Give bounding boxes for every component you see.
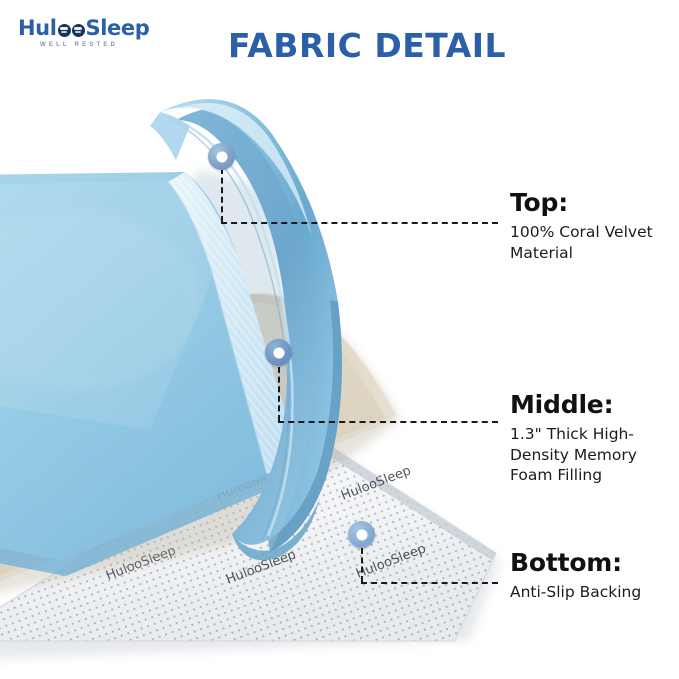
brand-wordmark: Hul Sleep	[18, 18, 168, 39]
watermark-text: HulooSleep	[339, 463, 413, 503]
leader-line-bottom-vertical	[361, 548, 363, 582]
anti-slip-backing-layer: HulooSleep HulooSleep HulooSleep HulooSl…	[0, 424, 500, 660]
brand-name-part2: Sleep	[86, 18, 150, 39]
callout-middle-heading: Middle:	[510, 392, 679, 418]
brand-name-part1: Hul	[18, 18, 57, 39]
callout-bottom-heading: Bottom:	[510, 550, 679, 576]
leader-line-middle-vertical	[278, 367, 280, 421]
callout-top-body: 100% Coral Velvet Material	[510, 222, 679, 263]
leader-line-top-horizontal	[221, 222, 498, 224]
page-title: FABRIC DETAIL	[228, 26, 506, 65]
callout-top-heading: Top:	[510, 190, 679, 216]
memory-foam-layer	[0, 294, 400, 600]
watermark-text: HulooSleep	[214, 463, 288, 503]
leader-line-middle-horizontal	[278, 421, 498, 423]
watermark-text: HulooSleep	[224, 547, 298, 587]
watermark-text: HulooSleep	[104, 543, 178, 583]
callout-marker-middle[interactable]	[265, 339, 292, 366]
watermark-text: HulooSleep	[0, 483, 62, 523]
fabric-detail-infographic: Hul Sleep WELL RESTED FABRIC DETAIL	[0, 0, 679, 679]
leader-line-bottom-horizontal	[361, 582, 498, 584]
callout-middle-body: 1.3" Thick High-Density Memory Foam Fill…	[510, 424, 679, 485]
callout-middle: Middle: 1.3" Thick High-Density Memory F…	[510, 392, 679, 486]
callout-bottom-body: Anti-Slip Backing	[510, 582, 679, 602]
callout-bottom: Bottom: Anti-Slip Backing	[510, 550, 679, 603]
brand-logo: Hul Sleep WELL RESTED	[18, 18, 168, 58]
leader-line-top-vertical	[221, 168, 223, 222]
callout-top: Top: 100% Coral Velvet Material	[510, 190, 679, 263]
callout-marker-bottom[interactable]	[348, 521, 375, 548]
callout-marker-top[interactable]	[208, 143, 235, 170]
coral-velvet-top-layer	[0, 99, 342, 576]
brand-tagline: WELL RESTED	[40, 42, 168, 48]
sleeping-eyes-icon	[58, 20, 85, 37]
